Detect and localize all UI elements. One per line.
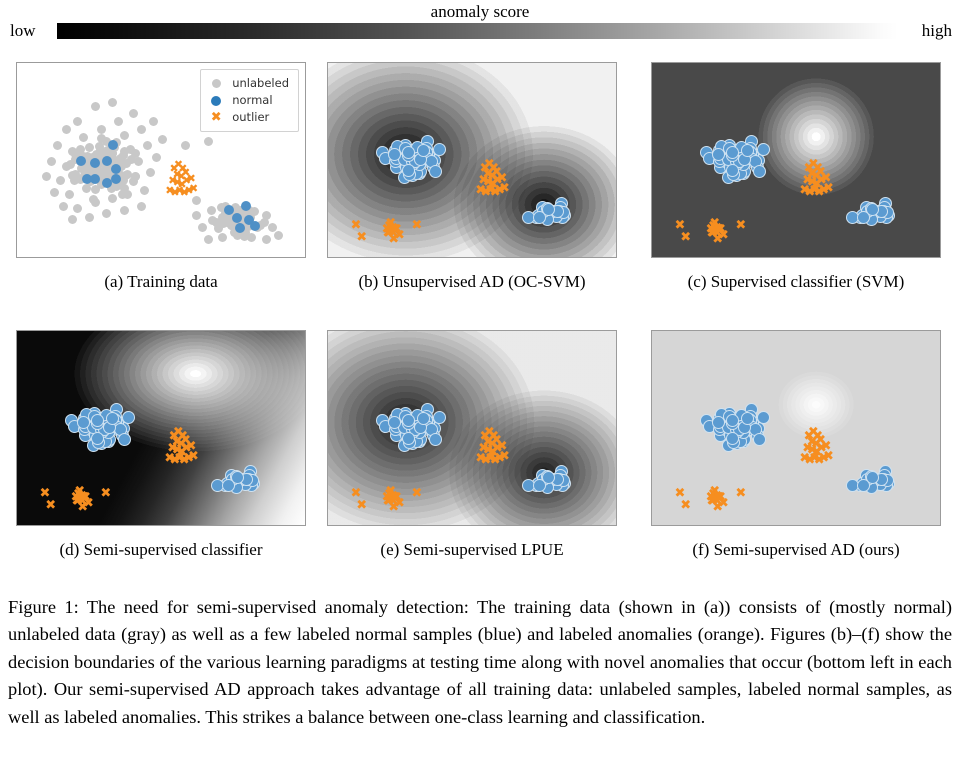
data-point <box>235 223 245 233</box>
outlier-cross-icon: ✖ <box>735 487 746 500</box>
panel-f-plot: ✖✖✖✖✖✖✖✖✖✖✖✖✖✖✖✖✖✖✖✖✖✖✖✖✖✖✖✖✖✖✖✖ <box>652 331 940 525</box>
outlier-cross-icon: ✖ <box>208 111 224 124</box>
data-point <box>76 156 86 166</box>
outlier-cross-icon: ✖ <box>189 183 198 194</box>
data-point <box>402 432 415 445</box>
outlier-cross-icon: ✖ <box>680 231 691 244</box>
data-point <box>102 156 112 166</box>
data-point <box>158 135 167 144</box>
colorbar-gradient-bar <box>57 23 898 39</box>
unlabeled-dot-icon <box>208 79 224 88</box>
outlier-cross-icon: ✖ <box>712 227 723 240</box>
data-point <box>542 471 555 484</box>
panel-e-semi-supervised-lpue: ✖✖✖✖✖✖✖✖✖✖✖✖✖✖✖✖✖✖✖✖✖✖✖✖✖✖✖✖✖✖✖✖ <box>327 330 617 526</box>
panel-d-semi-supervised-classifier: ✖✖✖✖✖✖✖✖✖✖✖✖✖✖✖✖✖✖✖✖✖✖✖✖✖✖✖✖✖✖✖✖ <box>16 330 306 526</box>
anomaly-score-colorbar: anomaly score low high <box>0 0 960 48</box>
colorbar-high-label: high <box>922 22 952 40</box>
legend-label-outlier: outlier <box>232 109 269 126</box>
legend-item-unlabeled: unlabeled <box>208 75 289 92</box>
panel-b-caption: (b) Unsupervised AD (OC-SVM) <box>317 272 627 292</box>
data-point <box>204 137 213 146</box>
data-point <box>53 141 62 150</box>
data-point <box>66 160 75 169</box>
outlier-cross-icon: ✖ <box>499 450 510 463</box>
outlier-cross-icon: ✖ <box>712 495 723 508</box>
data-point <box>417 144 430 157</box>
data-point <box>73 204 82 213</box>
figure-page: anomaly score low high ✖✖✖✖✖✖✖✖✖✖✖✖✖✖✖✖✖… <box>0 0 960 760</box>
panel-b-plot: ✖✖✖✖✖✖✖✖✖✖✖✖✖✖✖✖✖✖✖✖✖✖✖✖✖✖✖✖✖✖✖✖ <box>328 63 616 257</box>
data-point <box>47 157 56 166</box>
data-point <box>102 178 112 188</box>
legend-label-normal: normal <box>232 92 272 109</box>
data-point <box>726 164 739 177</box>
data-point <box>224 205 234 215</box>
outlier-cross-icon: ✖ <box>45 499 56 512</box>
data-point <box>106 412 119 425</box>
outlier-cross-icon: ✖ <box>356 231 367 244</box>
data-point <box>741 412 754 425</box>
data-point <box>120 131 129 140</box>
data-point <box>433 143 446 156</box>
data-point <box>433 411 446 424</box>
colorbar-title: anomaly score <box>0 2 960 22</box>
panel-f-caption: (f) Semi-supervised AD (ours) <box>641 540 951 560</box>
data-point <box>91 185 100 194</box>
data-point <box>129 109 138 118</box>
data-point <box>62 125 71 134</box>
data-point <box>111 164 121 174</box>
outlier-cross-icon: ✖ <box>388 227 399 240</box>
data-point <box>143 141 152 150</box>
data-point <box>542 203 555 216</box>
panel-d-caption: (d) Semi-supervised classifier <box>6 540 316 560</box>
data-point <box>152 153 161 162</box>
outlier-cross-icon: ✖ <box>823 182 834 195</box>
data-point <box>68 215 77 224</box>
data-point <box>204 235 213 244</box>
outlier-cross-icon: ✖ <box>188 450 199 463</box>
outlier-cross-icon: ✖ <box>388 495 399 508</box>
outlier-cross-icon: ✖ <box>735 219 746 232</box>
panel-b-unsupervised-ad: ✖✖✖✖✖✖✖✖✖✖✖✖✖✖✖✖✖✖✖✖✖✖✖✖✖✖✖✖✖✖✖✖ <box>327 62 617 258</box>
figure-caption: Figure 1: The need for semi-supervised a… <box>8 594 952 731</box>
panel-e-plot: ✖✖✖✖✖✖✖✖✖✖✖✖✖✖✖✖✖✖✖✖✖✖✖✖✖✖✖✖✖✖✖✖ <box>328 331 616 525</box>
legend-label-unlabeled: unlabeled <box>232 75 289 92</box>
outlier-cross-icon: ✖ <box>356 499 367 512</box>
panel-c-contour-field <box>652 63 940 257</box>
panel-a-training-data: ✖✖✖✖✖✖✖✖✖✖✖✖✖✖✖✖✖ unlabeled normal ✖ out… <box>16 62 306 258</box>
normal-dot-icon <box>208 96 224 106</box>
data-point <box>118 433 131 446</box>
data-point <box>757 143 770 156</box>
data-point <box>262 235 271 244</box>
data-point <box>417 412 430 425</box>
outlier-cross-icon: ✖ <box>680 499 691 512</box>
panel-a-caption: (a) Training data <box>16 272 306 292</box>
data-point <box>726 432 739 445</box>
outlier-cross-icon: ✖ <box>100 487 111 500</box>
data-point <box>402 164 415 177</box>
data-point <box>111 174 121 184</box>
data-point <box>429 433 442 446</box>
data-point <box>726 146 739 159</box>
data-point <box>89 195 98 204</box>
data-point <box>429 165 442 178</box>
data-point <box>181 141 190 150</box>
data-point <box>208 216 217 225</box>
outlier-cross-icon: ✖ <box>411 487 422 500</box>
data-point <box>108 194 117 203</box>
data-point <box>402 146 415 159</box>
legend: unlabeled normal ✖ outlier <box>200 69 299 132</box>
data-point <box>65 190 74 199</box>
data-point <box>192 196 201 205</box>
data-point <box>112 182 121 191</box>
data-point <box>137 202 146 211</box>
data-point <box>274 231 283 240</box>
data-point <box>108 140 118 150</box>
data-point <box>91 414 104 427</box>
outlier-cross-icon: ✖ <box>823 450 834 463</box>
data-point <box>120 206 129 215</box>
panel-d-contour-field <box>17 331 305 525</box>
data-point <box>757 411 770 424</box>
panel-b-contour-field <box>328 63 616 257</box>
data-point <box>91 432 104 445</box>
panel-e-contour-field <box>328 331 616 525</box>
panel-c-caption: (c) Supervised classifier (SVM) <box>641 272 951 292</box>
panel-f-semi-supervised-ad: ✖✖✖✖✖✖✖✖✖✖✖✖✖✖✖✖✖✖✖✖✖✖✖✖✖✖✖✖✖✖✖✖ <box>651 330 941 526</box>
panel-d-plot: ✖✖✖✖✖✖✖✖✖✖✖✖✖✖✖✖✖✖✖✖✖✖✖✖✖✖✖✖✖✖✖✖ <box>17 331 305 525</box>
data-point <box>250 221 260 231</box>
data-point <box>50 188 59 197</box>
data-point <box>753 165 766 178</box>
data-point <box>260 218 269 227</box>
data-point <box>726 414 739 427</box>
data-point <box>140 186 149 195</box>
data-point <box>207 206 216 215</box>
data-point <box>91 102 100 111</box>
data-point <box>741 144 754 157</box>
data-point <box>122 411 135 424</box>
data-point <box>231 471 244 484</box>
outlier-cross-icon: ✖ <box>77 495 88 508</box>
data-point <box>131 149 140 158</box>
panel-c-plot: ✖✖✖✖✖✖✖✖✖✖✖✖✖✖✖✖✖✖✖✖✖✖✖✖✖✖✖✖✖✖✖✖ <box>652 63 940 257</box>
data-point <box>131 172 140 181</box>
data-point <box>866 471 879 484</box>
panel-e-caption: (e) Semi-supervised LPUE <box>327 540 617 560</box>
legend-item-outlier: ✖ outlier <box>208 109 289 126</box>
panel-f-contour-field <box>652 331 940 525</box>
data-point <box>866 203 879 216</box>
colorbar-low-label: low <box>10 22 36 40</box>
data-point <box>59 202 68 211</box>
data-point <box>753 433 766 446</box>
outlier-cross-icon: ✖ <box>411 219 422 232</box>
data-point <box>97 125 106 134</box>
data-point <box>42 172 51 181</box>
data-point <box>118 190 127 199</box>
outlier-cross-icon: ✖ <box>499 182 510 195</box>
data-point <box>108 98 117 107</box>
legend-item-normal: normal <box>208 92 289 109</box>
data-point <box>90 174 100 184</box>
data-point <box>402 414 415 427</box>
panel-c-supervised-classifier: ✖✖✖✖✖✖✖✖✖✖✖✖✖✖✖✖✖✖✖✖✖✖✖✖✖✖✖✖✖✖✖✖ <box>651 62 941 258</box>
